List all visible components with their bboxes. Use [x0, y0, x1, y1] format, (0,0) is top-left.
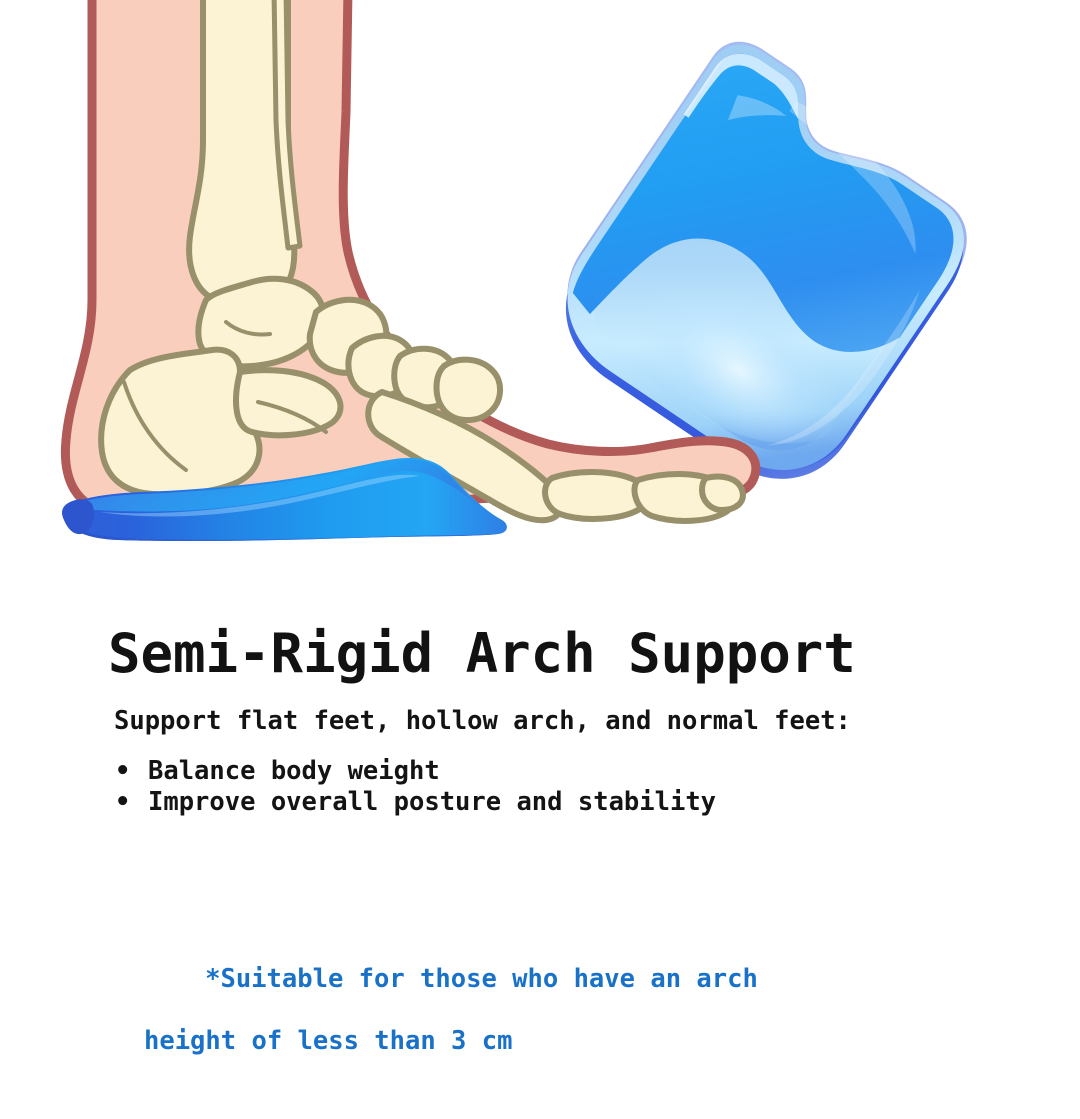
benefit-label: Improve overall posture and stability — [148, 787, 716, 817]
list-item: • Improve overall posture and stability — [110, 787, 716, 818]
list-item: • Balance body weight — [110, 756, 716, 787]
footnote: *Suitable for those who have an arch hei… — [113, 933, 758, 1119]
footnote-line-1: *Suitable for those who have an arch — [205, 964, 758, 994]
bullet-icon: • — [115, 787, 130, 818]
product-subtitle: Support flat feet, hollow arch, and norm… — [114, 706, 851, 736]
page-title: Semi-Rigid Arch Support — [108, 624, 856, 683]
toe-tip-bone — [702, 477, 743, 511]
benefit-label: Balance body weight — [148, 756, 440, 786]
calcaneus-bone — [101, 350, 259, 495]
cuboid-bone — [437, 360, 501, 420]
foot-insole-illustration — [0, 0, 1080, 600]
benefit-list: • Balance body weight • Improve overall … — [110, 756, 716, 818]
product-copy: Semi-Rigid Arch Support Support flat fee… — [0, 600, 1080, 1080]
illustration-svg — [0, 0, 1080, 600]
bullet-icon: • — [115, 756, 130, 787]
footnote-line-2: height of less than 3 cm — [113, 1026, 758, 1057]
product-card: Semi-Rigid Arch Support Support flat fee… — [0, 0, 1080, 1080]
phalanx-proximal — [545, 472, 646, 519]
